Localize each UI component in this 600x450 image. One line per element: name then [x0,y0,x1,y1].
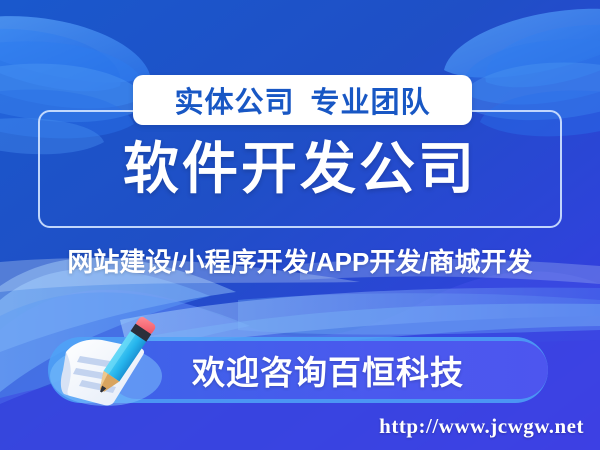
tagline-badge: 实体公司专业团队 [133,75,472,125]
services-list: 网站建设/小程序开发/APP开发/商城开发 [0,242,600,279]
website-url[interactable]: http://www.jcwgw.net [379,414,584,439]
tagline-badge-text: 实体公司专业团队 [174,79,430,121]
promotional-banner: 实体公司专业团队 软件开发公司 网站建设/小程序开发/APP开发/商城开发 欢迎… [0,0,600,450]
page-title: 软件开发公司 [0,133,600,205]
tagline-left: 实体公司 [174,87,294,119]
tagline-right: 专业团队 [311,87,431,119]
cta-label: 欢迎咨询百恒科技 [192,346,464,394]
document-pencil-icon [44,306,184,414]
